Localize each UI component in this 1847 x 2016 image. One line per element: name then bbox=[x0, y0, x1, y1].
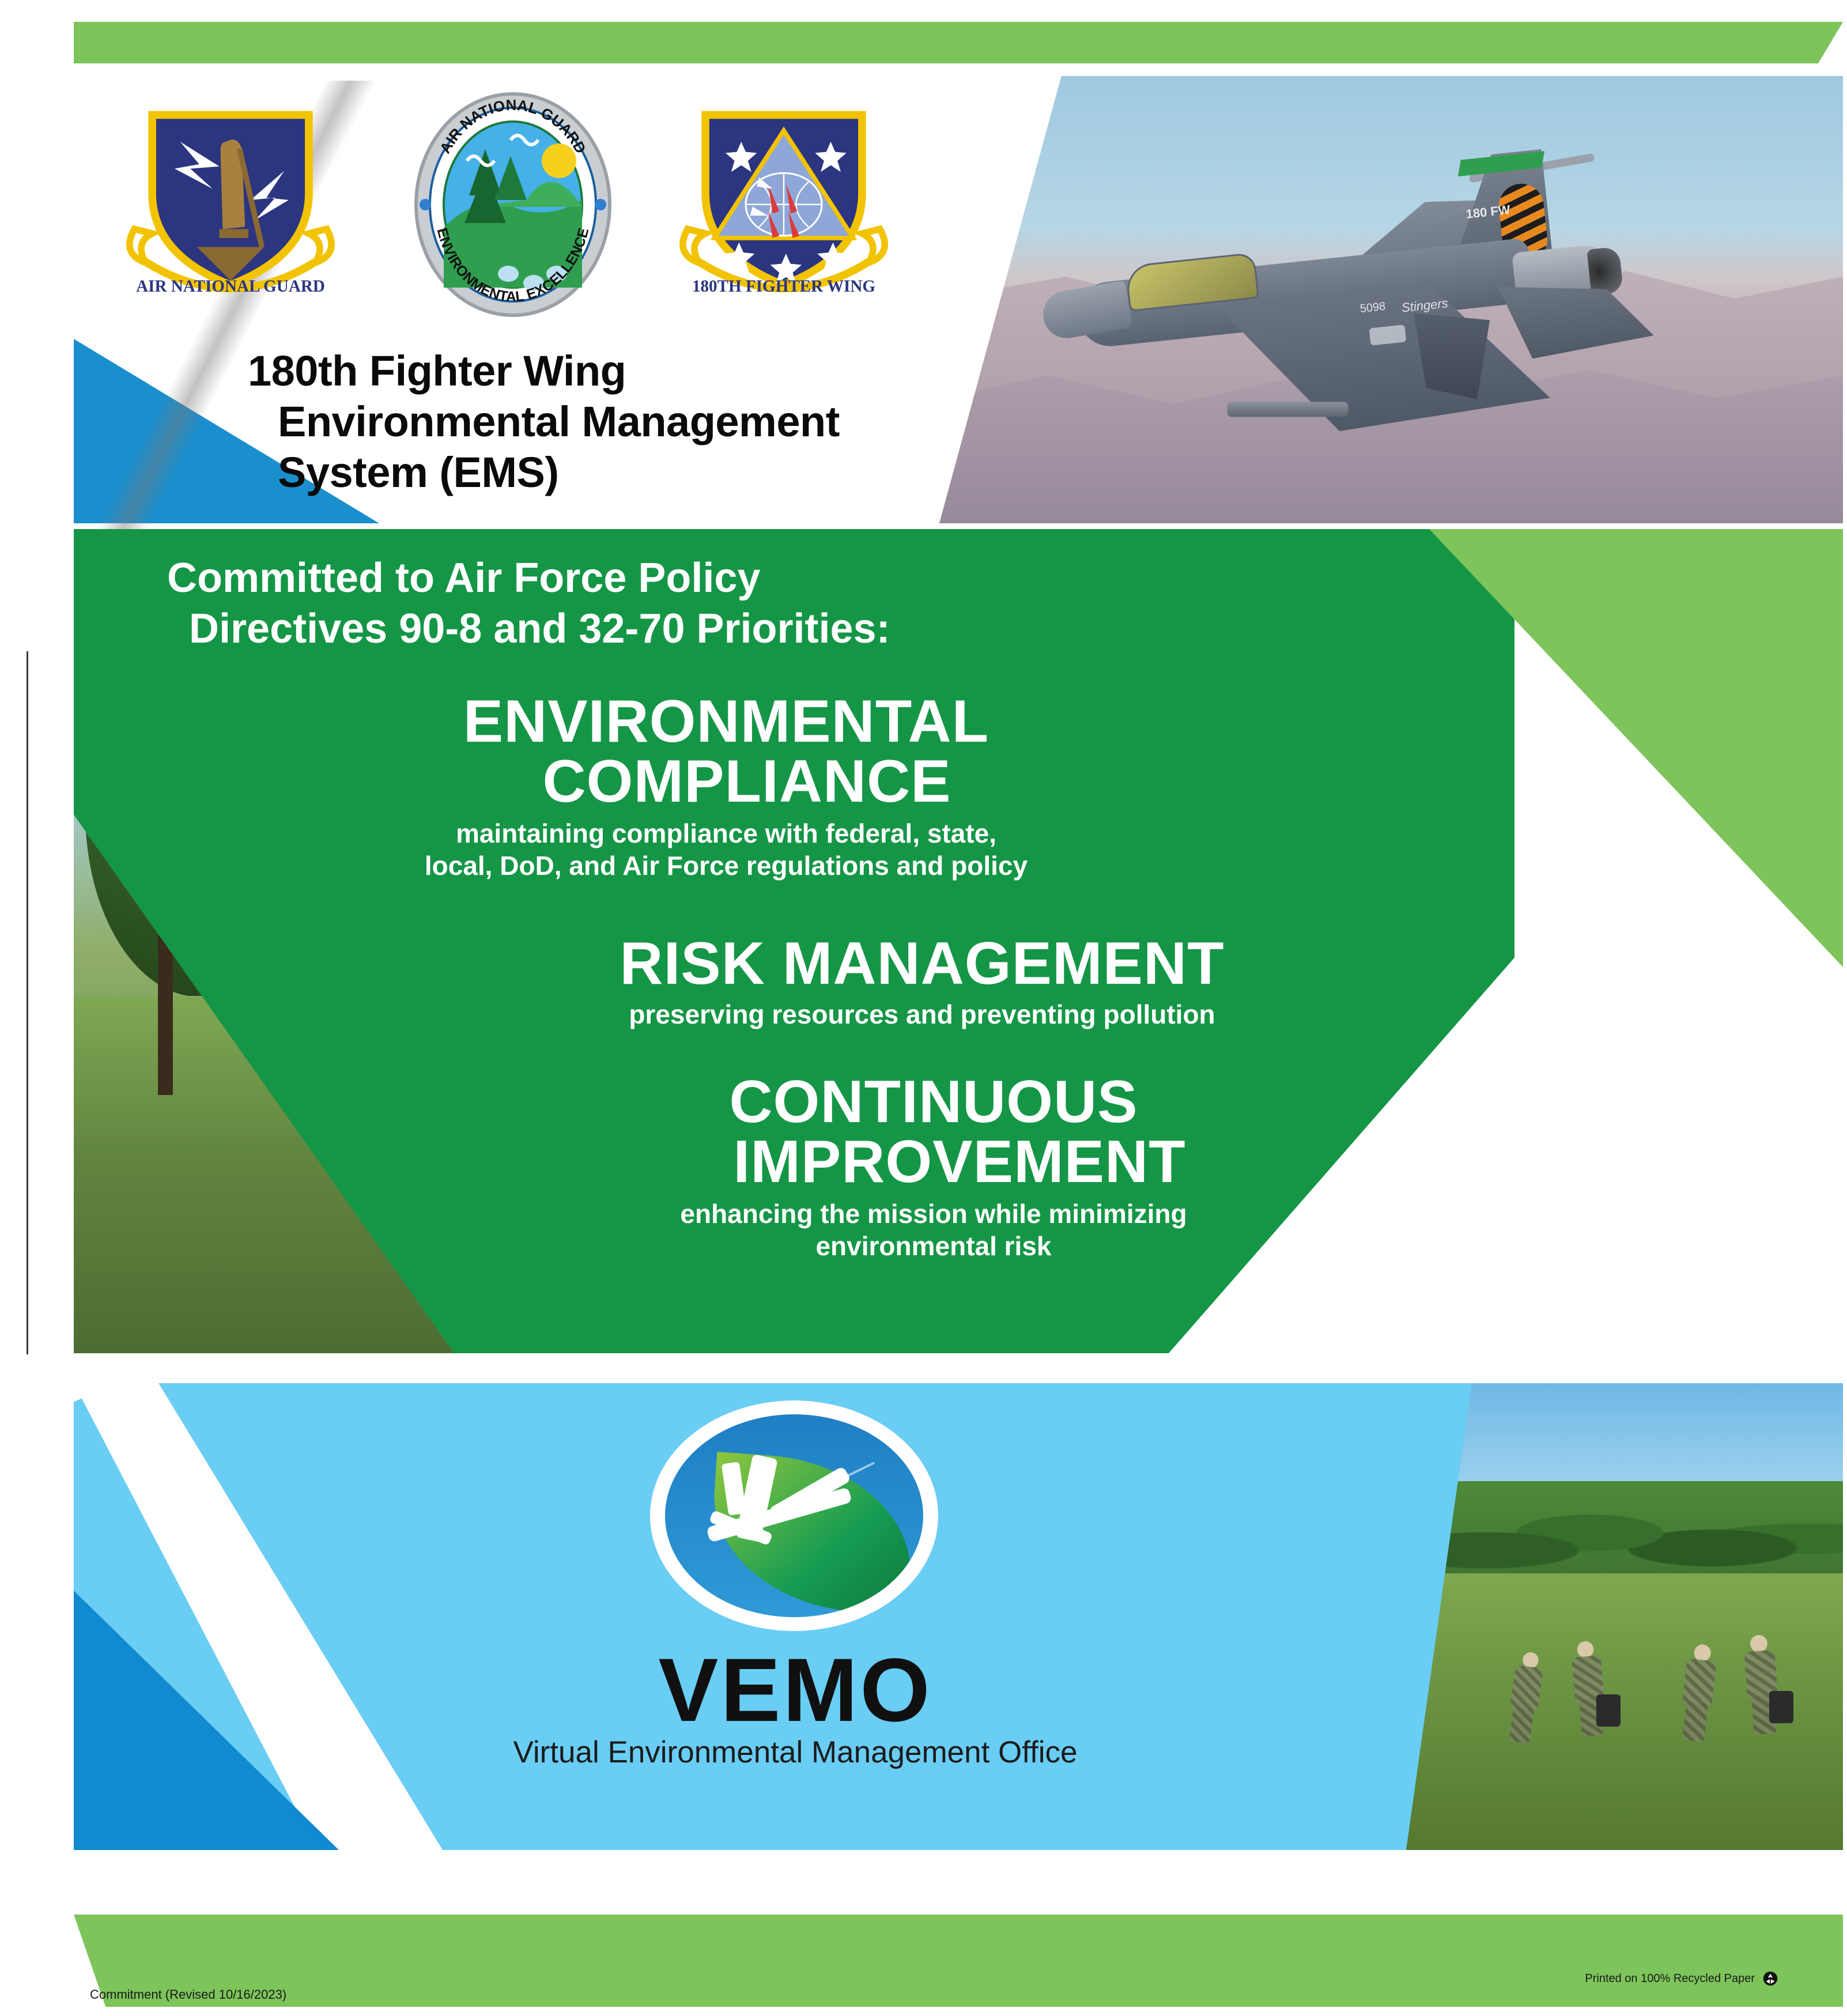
banner-heading: Committed to Air Force Policy Directives… bbox=[167, 553, 1366, 655]
priority-1-subtitle: maintaining compliance with federal, sta… bbox=[254, 817, 1199, 882]
vemo-wordmark: VEMO bbox=[622, 1645, 968, 1735]
bottom-green-accent-bar bbox=[74, 1915, 1843, 2007]
priority-risk-management: RISK MANAGEMENT preserving resources and… bbox=[403, 934, 1441, 1030]
180th-fighter-wing-emblem: 180TH FIGHTER WING bbox=[668, 104, 899, 294]
footer-recycled-paper-text: Printed on 100% Recycled Paper bbox=[1585, 1972, 1755, 1985]
vemo-jet-leaf-logo bbox=[650, 1400, 938, 1631]
priority-2-subtitle: preserving resources and preventing poll… bbox=[403, 998, 1441, 1030]
priority-3-title: CONTINUOUS IMPROVEMENT bbox=[496, 1072, 1372, 1192]
air-national-guard-emblem: AIR NATIONAL GUARD bbox=[115, 104, 346, 294]
priority-1-title-line-2: COMPLIANCE bbox=[254, 752, 1199, 811]
environmental-excellence-seal: AIR NATIONAL GUARD ENVIRONMENTAL EXCELLE… bbox=[398, 133, 628, 277]
top-green-accent-bar bbox=[74, 22, 1843, 63]
jet-serial-number: 5098 bbox=[1359, 300, 1387, 316]
vemo-subtitle: Virtual Environmental Management Office bbox=[461, 1735, 1130, 1770]
emblem-label-180fw: 180TH FIGHTER WING bbox=[692, 277, 875, 294]
left-margin-rule bbox=[27, 651, 28, 1354]
banner-heading-line-2: Directives 90-8 and 32-70 Priorities: bbox=[167, 604, 1366, 655]
banner-heading-line-1: Committed to Air Force Policy bbox=[167, 553, 1366, 604]
priority-3-subtitle-line-1: enhancing the mission while minimizing bbox=[496, 1198, 1372, 1230]
priority-1-subtitle-line-1: maintaining compliance with federal, sta… bbox=[254, 817, 1199, 850]
priority-2-subtitle-line-1: preserving resources and preventing poll… bbox=[403, 998, 1441, 1030]
f16-fighter-jet-photo: 180 FW 5098 Stingers bbox=[939, 76, 1843, 523]
footer-recycled-paper-note: Printed on 100% Recycled Paper bbox=[1585, 1971, 1778, 1986]
priority-3-subtitle: enhancing the mission while minimizing e… bbox=[496, 1198, 1372, 1262]
priority-2-title-line-1: RISK MANAGEMENT bbox=[620, 930, 1224, 997]
recycle-icon bbox=[1763, 1971, 1778, 1986]
airmen-field-cleanup-photo bbox=[1406, 1383, 1843, 1850]
priority-3-subtitle-line-2: environmental risk bbox=[496, 1230, 1372, 1262]
priority-1-subtitle-line-2: local, DoD, and Air Force regulations an… bbox=[254, 850, 1199, 882]
priority-1-title: ENVIRONMENTAL COMPLIANCE bbox=[254, 692, 1199, 811]
vemo-jet-icon bbox=[696, 1451, 856, 1568]
priority-1-title-line-1: ENVIRONMENTAL bbox=[463, 688, 989, 755]
priority-3-title-line-2: IMPROVEMENT bbox=[496, 1132, 1372, 1192]
priority-continuous-improvement: CONTINUOUS IMPROVEMENT enhancing the mis… bbox=[496, 1072, 1372, 1262]
emblem-label-ang: AIR NATIONAL GUARD bbox=[136, 277, 325, 294]
footer-revision-text: Commitment (Revised 10/16/2023) bbox=[90, 1987, 286, 2002]
priority-2-title: RISK MANAGEMENT bbox=[403, 934, 1441, 994]
priority-environmental-compliance: ENVIRONMENTAL COMPLIANCE maintaining com… bbox=[254, 692, 1199, 882]
priority-3-title-line-1: CONTINUOUS bbox=[729, 1069, 1138, 1135]
